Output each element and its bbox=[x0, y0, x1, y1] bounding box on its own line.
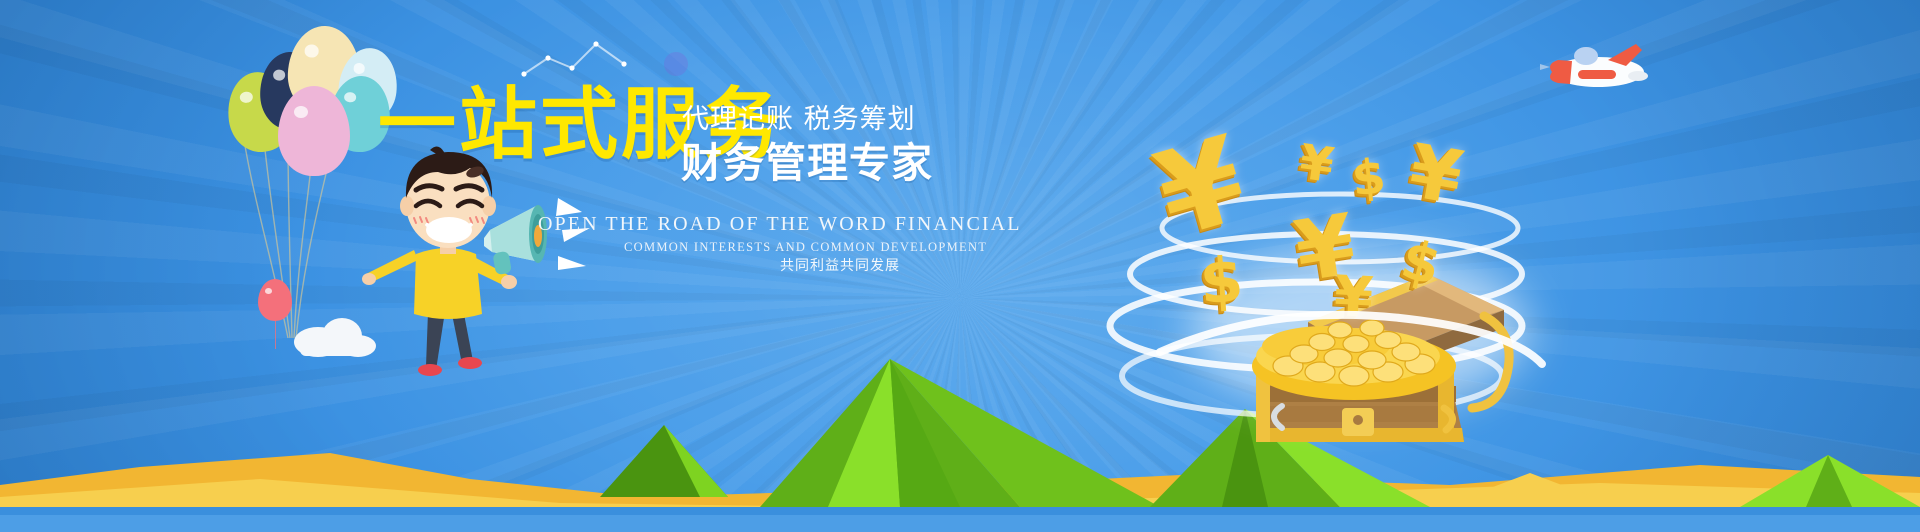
sand-layer-light bbox=[0, 479, 1920, 532]
cloud-icon bbox=[288, 316, 380, 358]
sand-hill-right bbox=[1440, 473, 1620, 507]
mountain-right-left bbox=[1150, 409, 1340, 507]
balloon-icon-green bbox=[223, 68, 298, 156]
airplane-icon bbox=[1538, 34, 1650, 96]
balloon-icon-navy bbox=[258, 50, 324, 131]
sand-layer bbox=[0, 453, 1920, 532]
mountain-right-right bbox=[1245, 409, 1430, 507]
megaphone-icon bbox=[478, 190, 598, 300]
currency-dollar-3: $ bbox=[1396, 232, 1446, 293]
currency-yen-large: ¥ bbox=[1145, 119, 1256, 255]
english-headline: OPEN THE ROAD OF THE WORD FINANCIAL bbox=[538, 213, 878, 236]
water-line bbox=[0, 507, 1920, 515]
marketing-banner: ¥ ¥ $ ¥ $ ¥ $ ¥ 一站式服务 代理记账 税务筹划 财务管理专家 O… bbox=[0, 0, 1920, 532]
water-body bbox=[0, 515, 1920, 532]
mountain-small-light bbox=[664, 425, 728, 497]
landscape-ground bbox=[0, 357, 1920, 532]
line-chart-icon bbox=[520, 36, 630, 80]
sunburst-rays-overlay bbox=[0, 0, 1920, 532]
currency-yen-mid3: ¥ bbox=[1333, 269, 1375, 327]
english-subline: COMMON INTERESTS AND COMMON DEVELOPMENT bbox=[624, 240, 878, 255]
currency-yen-mid2: ¥ bbox=[1290, 202, 1361, 294]
mountain-right-face bbox=[1222, 409, 1268, 507]
money-swirl-rings bbox=[1090, 170, 1570, 440]
mountain-main-right bbox=[890, 359, 1160, 507]
money-swirl-front bbox=[1150, 300, 1550, 410]
balloon-icon-pink bbox=[278, 86, 350, 176]
sunburst-rays bbox=[0, 0, 1920, 532]
decor-dot-purple bbox=[664, 52, 688, 76]
mascot-boy-icon bbox=[352, 142, 552, 402]
gold-coin-pile bbox=[1252, 320, 1456, 400]
currency-yen-small1: ¥ bbox=[1297, 138, 1337, 190]
mountain-main-face bbox=[828, 359, 900, 507]
treasure-chest-icon bbox=[1216, 258, 1526, 448]
balloon-strings bbox=[236, 140, 356, 340]
chinese-tagline: 共同利益共同发展 bbox=[780, 255, 878, 275]
mountain-far-right-face bbox=[1806, 455, 1852, 507]
mountain-main-left bbox=[760, 359, 1020, 507]
balloon-icon-red-small bbox=[258, 279, 292, 321]
currency-dollar-1: $ bbox=[1350, 152, 1388, 203]
balloon-string-red bbox=[275, 321, 276, 349]
vignette-overlay bbox=[0, 0, 1920, 532]
expertise-tagline: 财务管理专家 bbox=[681, 129, 933, 189]
currency-dollar-2: $ bbox=[1198, 249, 1245, 314]
mountain-far-right bbox=[1740, 455, 1920, 507]
balloon-icon-cream bbox=[286, 25, 361, 115]
mountain-main-shadow bbox=[890, 359, 960, 507]
sky-background bbox=[0, 0, 1920, 532]
mountain-small-dark bbox=[600, 425, 728, 497]
currency-yen-medium: ¥ bbox=[1404, 134, 1468, 216]
treasure-glow bbox=[1190, 250, 1530, 410]
